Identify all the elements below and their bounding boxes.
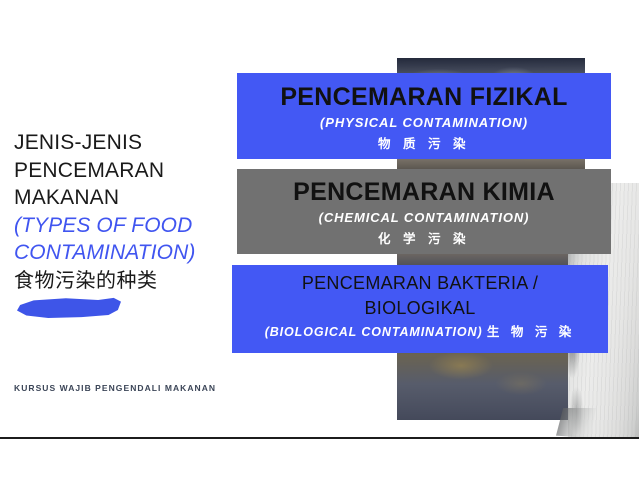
card-title-malay-line-2: BIOLOGIKAL bbox=[232, 296, 608, 321]
card-title-english-text: (BIOLOGICAL CONTAMINATION) bbox=[265, 325, 483, 339]
title-line-5-english: CONTAMINATION) bbox=[14, 239, 232, 267]
brush-stroke-accent bbox=[17, 297, 121, 318]
card-title-chinese: 化 学 污 染 bbox=[237, 229, 611, 249]
card-title-english: (CHEMICAL CONTAMINATION) bbox=[237, 207, 611, 229]
card-title-malay: PENCEMARAN FIZIKAL bbox=[237, 82, 611, 112]
card-title-chinese: 生 物 污 染 bbox=[487, 325, 575, 339]
course-label: KURSUS WAJIB PENGENDALI MAKANAN bbox=[14, 383, 216, 393]
title-line-4-english: (TYPES OF FOOD bbox=[14, 212, 232, 240]
card-title-chinese: 物 质 污 染 bbox=[237, 134, 611, 154]
footer-bar: PROGRAM LATIHAN PENGENDALI MAKANAN KEMEN… bbox=[0, 439, 639, 480]
card-title-english: (PHYSICAL CONTAMINATION) bbox=[237, 112, 611, 134]
slide-canvas: JENIS-JENIS PENCEMARAN MAKANAN (TYPES OF… bbox=[0, 0, 639, 480]
title-line-2: PENCEMARAN bbox=[14, 157, 232, 185]
card-title-malay-line-1: PENCEMARAN BAKTERIA / bbox=[232, 271, 608, 296]
card-title-malay: PENCEMARAN KIMIA bbox=[237, 177, 611, 207]
contamination-card-chemical[interactable]: PENCEMARAN KIMIA (CHEMICAL CONTAMINATION… bbox=[237, 169, 611, 254]
contamination-card-biological[interactable]: PENCEMARAN BAKTERIA / BIOLOGIKAL (BIOLOG… bbox=[232, 265, 608, 353]
title-line-3: MAKANAN bbox=[14, 184, 232, 212]
title-line-1: JENIS-JENIS bbox=[14, 129, 232, 157]
page-title: JENIS-JENIS PENCEMARAN MAKANAN (TYPES OF… bbox=[14, 129, 232, 295]
contamination-card-physical[interactable]: PENCEMARAN FIZIKAL (PHYSICAL CONTAMINATI… bbox=[237, 73, 611, 159]
card-title-english: (BIOLOGICAL CONTAMINATION) 生 物 污 染 bbox=[232, 321, 608, 344]
title-line-6-chinese: 食物污染的种类 bbox=[14, 267, 232, 295]
